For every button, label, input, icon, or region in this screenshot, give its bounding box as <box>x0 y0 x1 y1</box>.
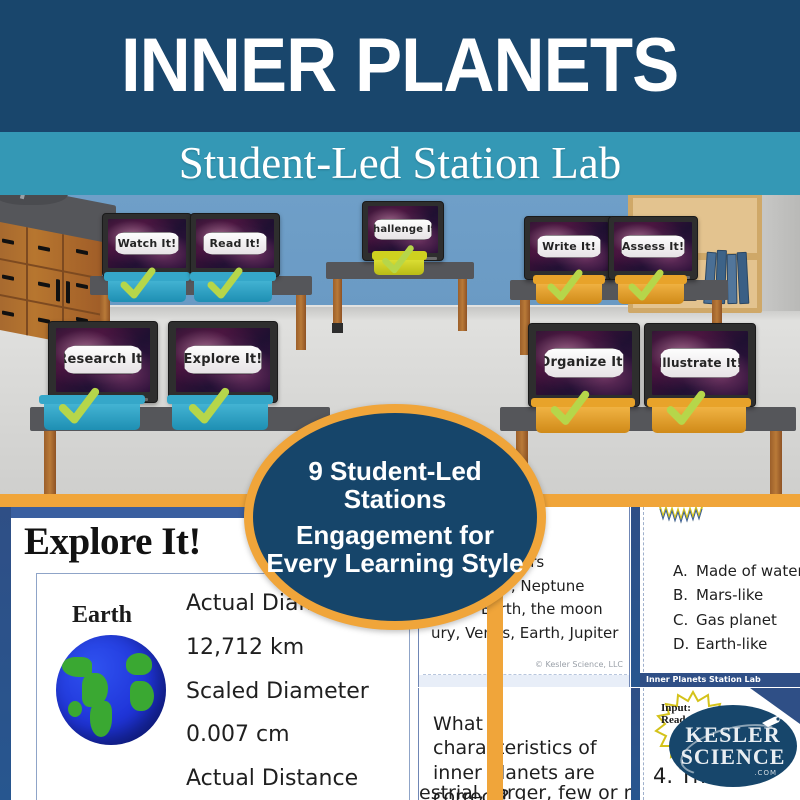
option-text: Mars-like <box>696 583 763 607</box>
monitor-screen: Watch It! <box>108 219 185 268</box>
poster-title-band: INNER PLANETS <box>0 0 800 132</box>
station-plaque: Write It! <box>537 235 601 258</box>
station-label: Read It! <box>209 237 260 250</box>
checkmark-icon <box>118 265 158 305</box>
checkmark-icon <box>626 267 666 307</box>
copyright-text: © Kesler Science, LLC <box>535 660 623 669</box>
answer-options-list: A. Made of water B. Mars-like C. Gas pla… <box>673 559 800 656</box>
checkmark-icon <box>56 385 102 431</box>
worksheet-dashed-rule <box>643 688 644 800</box>
answer-fragment-text: estrial, larger, few or no <box>419 782 619 800</box>
row-value: 0.007 cm <box>186 722 401 749</box>
worksheet-question-middle: What characteristics of inner planets ar… <box>418 688 630 800</box>
option-c[interactable]: C. Gas planet <box>673 608 800 632</box>
worksheet-left-band <box>631 507 640 687</box>
wall-panel <box>756 195 800 311</box>
checkmark-icon <box>205 265 245 305</box>
monitor-screen: Read It! <box>196 219 273 268</box>
option-b[interactable]: B. Mars-like <box>673 583 800 607</box>
station-plaque: Challenge It! <box>374 219 432 240</box>
row-value: 12,712 km <box>186 635 401 662</box>
option-letter: A. <box>673 559 687 583</box>
monitor-brand-icon <box>425 257 436 259</box>
option-d[interactable]: D. Earth-like <box>673 632 800 656</box>
station-label: Illustrate It! <box>658 356 743 370</box>
monitor-screen: Explore It! <box>176 328 271 391</box>
monitor-screen: Organize It! <box>536 331 632 396</box>
option-text: Earth-like <box>696 632 767 656</box>
worksheet-multiple-choice: A. Made of water B. Mars-like C. Gas pla… <box>631 507 800 687</box>
station-plaque: Read It! <box>203 232 267 255</box>
earth-globe-icon <box>56 635 166 745</box>
faucet-icon <box>8 195 42 199</box>
station-label: Explore It! <box>184 352 263 367</box>
station-plaque: Assess It! <box>621 235 685 258</box>
monitor-screen: Assess It! <box>614 222 691 271</box>
worksheet-left-band <box>631 688 640 800</box>
worksheet-bottom-band <box>419 675 629 687</box>
footer-text: Inner Planets Station Lab <box>646 675 761 684</box>
station-plaque: Watch It! <box>115 232 179 255</box>
planet-name: Earth <box>72 602 132 629</box>
station-plaque: Organize It! <box>544 348 623 378</box>
worksheet-footer: Inner Planets Station Lab <box>640 673 800 687</box>
station-label: Write It! <box>542 240 596 253</box>
station-label: Challenge It! <box>368 224 439 235</box>
station-plaque: Research It! <box>64 345 142 374</box>
station-plaque: Illustrate It! <box>660 348 739 378</box>
option-letter: B. <box>673 583 687 607</box>
page-title: INNER PLANETS <box>121 28 678 104</box>
station-label: Organize It! <box>539 355 629 370</box>
badge-content: 9 Student-Led Stations Engagement for Ev… <box>244 404 546 630</box>
option-letter: C. <box>673 608 687 632</box>
monitor-screen: Write It! <box>530 222 607 271</box>
feature-badge: 9 Student-Led Stations Engagement for Ev… <box>244 404 546 630</box>
checkmark-icon <box>664 388 708 432</box>
badge-line-1: 9 Student-Led Stations <box>262 457 528 513</box>
badge-line-2: Engagement for Every Learning Style <box>262 521 528 577</box>
data-row-scaled-diameter: Scaled Diameter 0.007 cm <box>186 679 401 750</box>
station-label: Assess It! <box>622 240 684 253</box>
option-letter: D. <box>673 632 687 656</box>
row-label: Actual Distance <box>186 766 401 793</box>
poster-root: INNER PLANETS Student-Led Station Lab <box>0 0 800 800</box>
logo-line-2: SCIENCE <box>669 744 797 770</box>
worksheet-left-band <box>0 507 11 800</box>
checkmark-icon <box>186 385 232 431</box>
data-row-actual-distance: Actual Distance 150,000,000 km <box>186 766 401 800</box>
worksheet-dashed-rule <box>643 507 644 687</box>
page-subtitle: Student-Led Station Lab <box>179 141 621 186</box>
starburst-icon <box>659 507 705 527</box>
kesler-science-logo: KESLER SCIENCE .COM <box>669 705 797 787</box>
row-label: Scaled Diameter <box>186 679 401 706</box>
checkmark-icon <box>548 388 592 432</box>
poster-subtitle-band: Student-Led Station Lab <box>0 132 800 195</box>
station-label: Watch It! <box>118 237 177 250</box>
option-text: Gas planet <box>696 608 777 632</box>
monitor-screen: Research It! <box>56 328 151 391</box>
worksheet-title: Explore It! <box>24 519 201 564</box>
logo-tld: .COM <box>754 769 777 777</box>
option-a[interactable]: A. Made of water <box>673 559 800 583</box>
station-label: Research It! <box>57 352 148 367</box>
station-plaque: Explore It! <box>184 345 262 374</box>
option-text: Made of water <box>696 559 800 583</box>
checkmark-icon <box>380 243 416 279</box>
checkmark-icon <box>545 267 585 307</box>
monitor-screen: Illustrate It! <box>652 331 748 396</box>
